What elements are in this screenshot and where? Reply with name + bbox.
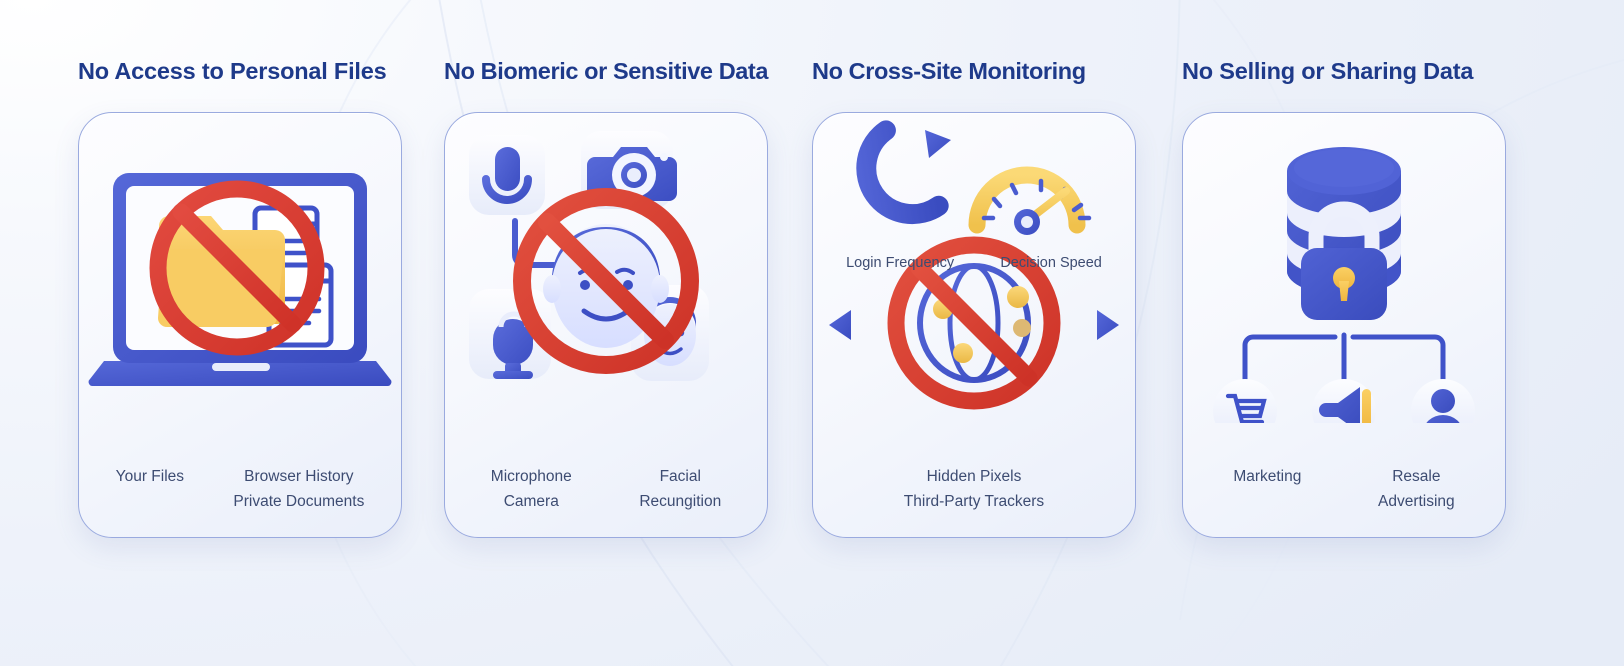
caption-microphone-camera: Microphone Camera (491, 464, 572, 514)
card-4-captions: Marketing Resale Advertising (1183, 464, 1505, 514)
card-no-selling-sharing-data[interactable]: Marketing Resale Advertising (1182, 112, 1506, 538)
infographic-canvas: No Access to Personal Files (0, 0, 1624, 666)
megaphone-icon (1312, 379, 1376, 423)
caption-your-files: Your Files (116, 464, 184, 489)
card-no-cross-site-monitoring[interactable]: Login Frequency Decision Speed Hidden Pi… (812, 112, 1136, 538)
page-title-2: No Biomeric or Sensitive Data (444, 60, 774, 84)
speedometer-icon (977, 175, 1089, 235)
card-column-2: No Biomeric or Sensitive Data (444, 60, 774, 538)
card-grid: No Access to Personal Files (0, 0, 1624, 666)
connector-lines (1245, 335, 1443, 379)
card-no-biometric-data[interactable]: Microphone Camera Facial Recungition (444, 112, 768, 538)
card-1-captions: Your Files Browser History Private Docum… (79, 464, 401, 514)
card-2-captions: Microphone Camera Facial Recungition (445, 464, 767, 514)
label-decision-speed: Decision Speed (1000, 255, 1102, 271)
refresh-icon (848, 130, 951, 232)
card-column-4: No Selling or Sharing Data (1182, 60, 1512, 538)
person-icon (1411, 379, 1475, 423)
card-1-illustration (79, 113, 401, 423)
page-title-4: No Selling or Sharing Data (1182, 60, 1512, 84)
caption-browser-history: Browser History Private Documents (233, 464, 364, 514)
page-title-1: No Access to Personal Files (78, 60, 408, 84)
card-4-illustration (1183, 113, 1505, 423)
caption-marketing: Marketing (1233, 464, 1301, 489)
card-3-mid-labels: Login Frequency Decision Speed (813, 255, 1135, 271)
caption-resale-advertising: Resale Advertising (1378, 464, 1455, 514)
card-3-captions: Hidden Pixels Third-Party Trackers (813, 464, 1135, 514)
card-column-3: No Cross-Site Monitoring (812, 60, 1142, 538)
caption-facial-recognition: Facial Recungition (639, 464, 721, 514)
shopping-cart-icon (1213, 379, 1277, 423)
page-title-3: No Cross-Site Monitoring (812, 60, 1142, 84)
caption-hidden-pixels: Hidden Pixels Third-Party Trackers (904, 464, 1044, 514)
card-no-access-personal-files[interactable]: Your Files Browser History Private Docum… (78, 112, 402, 538)
card-column-1: No Access to Personal Files (78, 60, 408, 538)
microphone-icon (469, 135, 545, 215)
label-login-frequency: Login Frequency (846, 255, 954, 271)
card-2-illustration (445, 113, 767, 423)
